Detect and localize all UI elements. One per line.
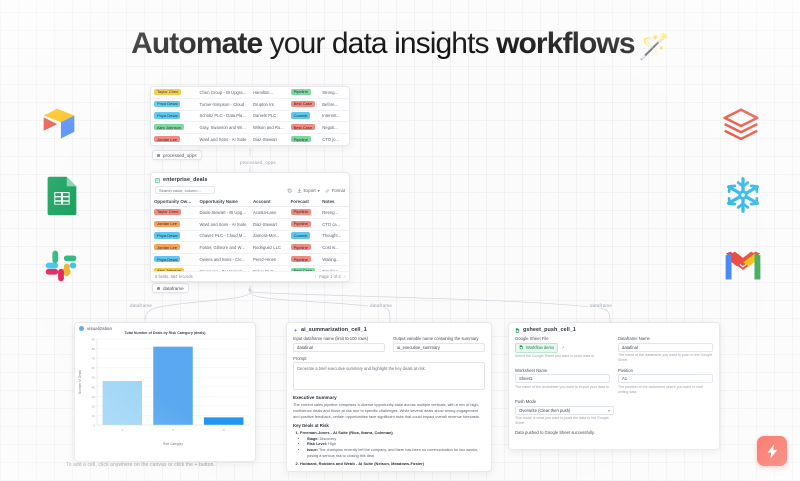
deal-item: Freeman-Jones - AI Suite (Rios, Ibarra, …	[300, 430, 485, 460]
sparkle-icon	[293, 328, 298, 333]
svg-text:40: 40	[92, 385, 96, 389]
cell-notes: Thoght...	[319, 145, 349, 146]
cell-notes: Before...	[319, 98, 349, 110]
cell-notes: Waiting...	[319, 254, 349, 266]
deal-fact: Issue: The champion recently left the co…	[307, 448, 485, 459]
table-row[interactable]: Jordan LeeFoster, Gilmore and Wood...Rod…	[151, 242, 349, 254]
top-table-card[interactable]: Taylor ChenChen Group - BI UpgradeHamilt…	[150, 86, 350, 146]
sheet-file-icon	[519, 345, 524, 350]
cell-name: Owens PLC - Cloud Migra...	[197, 145, 250, 146]
status-pill: Best Case	[291, 124, 315, 130]
gsheet-pushmode-help: This mode is what you want to push the d…	[515, 416, 614, 426]
record-count: 6 fields, 684 records	[155, 274, 193, 279]
cell-notes: Reeng...	[319, 207, 349, 219]
node-processed-opps[interactable]: processed_opps	[152, 150, 202, 160]
gsheet-worksheet-help: The name of the worksheet you want to ex…	[515, 385, 610, 390]
prev-page-icon[interactable]: ‹	[315, 274, 316, 279]
chevron-down-icon: ▾	[318, 188, 320, 193]
gsheet-row-3: Push Mode Overwrite (Clear then push) ▾ …	[509, 399, 719, 426]
svg-text:50: 50	[92, 376, 96, 380]
card-title-text: enterprise_deals	[163, 177, 207, 183]
status-pill: Pipeline	[291, 209, 311, 215]
status-pill: Priya Desai	[154, 232, 180, 238]
cell-owner: Taylor Chen	[151, 87, 197, 98]
ai-prompt-textarea[interactable]: Generate a brief executive summary and h…	[293, 362, 485, 390]
cell-forecast: Pipeline	[288, 242, 320, 254]
card-title-text: ai_summarization_cell_1	[301, 327, 367, 333]
status-pill: Taylor Chen	[154, 89, 181, 95]
table-row[interactable]: Alex JohnsonGray, Swanson and Wise...Wil…	[151, 122, 349, 134]
visualization-card[interactable]: visualization Total Number of Deals by R…	[74, 322, 256, 462]
legend-label: visualization	[87, 326, 112, 331]
cell-account: Zamora-Mor...	[250, 145, 288, 146]
external-link-icon[interactable]: ↗	[561, 345, 564, 350]
svg-text:80: 80	[92, 347, 96, 351]
enterprise-deals-table: Opportunity OwnerOpportunity NameAccount…	[151, 197, 349, 282]
table-row[interactable]: Priya DesaiOwens and Sons - Cloud ...Per…	[151, 254, 349, 266]
table-row[interactable]: Jordan LeeWard and Sons - AI SuiteDiaz-S…	[151, 218, 349, 230]
gsheet-file-chip[interactable]: Workflow demo	[515, 343, 558, 353]
cell-account: Rodriguez LLC	[250, 242, 288, 254]
enterprise-deals-footer: 6 fields, 684 records ‹ Page 1 of 3 ›	[151, 271, 349, 281]
node-handle-icon	[157, 287, 160, 290]
ai-prompt-group: Prompt Generate a brief executive summar…	[287, 352, 491, 391]
gsheet-dataframe-group: Dataframe Name datafinal The name of the…	[618, 336, 713, 363]
workflow-canvas[interactable]: dataframe dataframe dataframe processed_…	[0, 0, 800, 481]
status-pill: Best Case	[291, 101, 315, 107]
cell-account: Diaz-Stewart	[250, 218, 288, 230]
svg-text:30: 30	[92, 395, 96, 399]
node-handle-icon	[157, 154, 160, 157]
page-indicator: Page 1 of 3	[319, 274, 340, 279]
column-header[interactable]: Forecast	[288, 197, 320, 207]
cell-account: Zamora-Mor...	[250, 230, 288, 242]
status-pill: Taylor Chen	[154, 209, 181, 215]
column-header[interactable]: Opportunity Owner	[151, 197, 197, 207]
cell-owner: Priya Desai	[151, 145, 197, 146]
gsheet-position-value[interactable]: A1	[618, 374, 713, 383]
pagination[interactable]: ‹ Page 1 of 3 ›	[315, 274, 345, 279]
gsheet-pushmode-select[interactable]: Overwrite (Clear then push) ▾	[515, 406, 614, 415]
landing-hero-canvas: Automate your data insights workflows🪄	[0, 0, 800, 481]
table-row[interactable]: Priya DesaiSchultz PLC - Data Platf...Da…	[151, 110, 349, 122]
ai-input-field-group: Input dataframe name (limit to 100 rows)…	[293, 336, 385, 352]
edge-label-dataframe-1: dataframe	[128, 303, 154, 308]
cell-notes: Negoti...	[319, 122, 349, 134]
next-page-icon[interactable]: ›	[344, 274, 345, 279]
svg-text:90: 90	[92, 338, 96, 342]
cell-forecast: Commit	[288, 230, 320, 242]
ai-output-value[interactable]: ai_executive_summary	[393, 343, 485, 352]
status-pill: Alex Johnson	[154, 124, 184, 130]
status-pill: Pipeline	[291, 136, 311, 142]
edge-label-dataframe-3: dataframe	[588, 303, 614, 308]
bar-chart: 0102030405060708090123Risk CategoryNumbe…	[75, 335, 256, 447]
column-header[interactable]: Opportunity Name	[197, 197, 250, 207]
table-toolbar[interactable]: Export ▾ Format	[151, 183, 349, 197]
canvas-hint-text: To add a cell, click anywhere on the can…	[66, 462, 215, 468]
cell-account: Wilson and Ro...	[250, 122, 288, 134]
svg-text:Number of Deals: Number of Deals	[78, 370, 82, 394]
cell-name: Schultz PLC - Data Platf...	[197, 110, 250, 122]
cell-owner: Priya Desai	[151, 254, 197, 266]
cell-owner: Priya Desai	[151, 98, 197, 110]
cell-account: Hamilton...	[250, 87, 288, 98]
svg-text:10: 10	[92, 414, 96, 418]
svg-text:20: 20	[92, 404, 96, 408]
cell-notes: CTO jo...	[319, 134, 349, 146]
status-pill: Priya Desai	[154, 256, 180, 262]
status-pill: Pipeline	[291, 89, 311, 95]
cell-name: Chen Group - BI Upgrade	[197, 87, 250, 98]
search-input[interactable]	[155, 186, 215, 194]
ai-prompt-label: Prompt	[293, 356, 485, 361]
deal-facts: Stage: DiscoveryRisk Level: HighIssue: T…	[307, 437, 485, 460]
cell-forecast: Best Case	[288, 98, 320, 110]
lightning-bolt-badge[interactable]	[757, 436, 787, 466]
cell-name: Ward and Sons - AI Suite	[197, 218, 250, 230]
status-pill: Pipeline	[291, 256, 311, 262]
export-button[interactable]: Export ▾	[297, 188, 320, 193]
ai-input-value[interactable]: datafinal	[293, 343, 385, 352]
summary-heading: Executive Summary	[293, 395, 485, 400]
svg-text:0: 0	[93, 424, 95, 428]
chart-legend: visualization	[75, 323, 255, 331]
gsheet-row-2: Worksheet Name Sheet1 The name of the wo…	[509, 368, 719, 395]
cell-forecast: Commit	[288, 145, 320, 146]
cell-name: Turner-Simpson - Cloud	[197, 98, 250, 110]
brush-icon	[325, 188, 330, 193]
gsheet-file-label: Google Sheet File	[515, 336, 610, 341]
format-label: Format	[332, 188, 345, 193]
format-button[interactable]: Format	[325, 188, 345, 193]
gsheet-dataframe-label: Dataframe Name	[618, 336, 713, 341]
cell-forecast: Pipeline	[288, 207, 320, 219]
gsheet-file-help: Select the Google Sheet you want to push…	[515, 354, 610, 359]
cell-owner: Jordan Lee	[151, 218, 197, 230]
google-sheets-icon	[515, 328, 520, 333]
svg-text:3: 3	[223, 428, 225, 432]
gsheet-file-group: Google Sheet File Workflow demo ↗ Select…	[515, 336, 610, 363]
table-row[interactable]: Taylor ChenChen Group - BI UpgradeHamilt…	[151, 87, 349, 98]
cell-name: Chavez PLC - Cloud Migra...	[197, 230, 250, 242]
table-row[interactable]: Priya DesaiOwens PLC - Cloud Migra...Zam…	[151, 145, 349, 146]
cell-name: Ward and Sons - AI Suite	[197, 134, 250, 146]
cell-forecast: Commit	[288, 110, 320, 122]
legend-swatch-icon	[79, 326, 84, 331]
export-label: Export	[304, 188, 316, 193]
top-table: Taylor ChenChen Group - BI UpgradeHamilt…	[151, 87, 349, 146]
status-pill: Priya Desai	[154, 101, 180, 107]
status-pill: Jordan Lee	[154, 221, 180, 227]
gsheet-status-message: Data pushed to Google Sheet successfully…	[509, 426, 719, 439]
status-pill: Priya Desai	[154, 112, 180, 118]
cell-owner: Jordan Lee	[151, 134, 197, 146]
ai-summary-output: Executive Summary The current sales pipe…	[287, 390, 491, 467]
node-dataframe[interactable]: dataframe	[152, 283, 189, 293]
cell-account: Drupton Int	[250, 98, 288, 110]
ai-cell-fields: Input dataframe name (limit to 100 rows)…	[287, 336, 491, 352]
gsheet-position-help: The position of the worksheet where you …	[618, 385, 713, 395]
cell-notes: CTO ca...	[319, 218, 349, 230]
cell-name: Owens and Sons - Cloud ...	[197, 254, 250, 266]
cell-name: Foster, Gilmore and Wood...	[197, 242, 250, 254]
cell-owner: Taylor Chen	[151, 207, 197, 219]
ai-input-label: Input dataframe name (limit to 100 rows)	[293, 336, 385, 341]
deals-heading: Key Deals at Risk	[293, 423, 485, 428]
cell-forecast: Pipeline	[288, 254, 320, 266]
status-pill: Jordan Lee	[154, 244, 180, 250]
gsheet-position-label: Position	[618, 368, 713, 373]
status-pill: Pipeline	[291, 244, 311, 250]
cell-account: Acosta-Lane	[250, 207, 288, 219]
table-row[interactable]: Taylor ChenDavis-Stewart - BI UpgradeAco…	[151, 207, 349, 219]
cell-name: Davis-Stewart - BI Upgrade	[197, 207, 250, 219]
svg-text:Risk Category: Risk Category	[163, 442, 183, 446]
gsheet-cell-title-row: gsheet_push_cell_1	[515, 327, 713, 333]
ai-cell-title-row: ai_summarization_cell_1	[293, 327, 485, 333]
gsheet-position-group: Position A1 The position of the workshee…	[618, 368, 713, 395]
gsheet-row-1: Google Sheet File Workflow demo ↗ Select…	[509, 336, 719, 363]
cell-notes: Interest...	[319, 110, 349, 122]
gsheet-worksheet-group: Worksheet Name Sheet1 The name of the wo…	[515, 368, 610, 395]
table-icon	[155, 178, 160, 183]
cell-owner: Priya Desai	[151, 110, 197, 122]
deal-item: Hubbard, Robbins and Webb - AI Suite (Ne…	[300, 461, 485, 467]
cell-account: Diaz-Stewart	[250, 134, 288, 146]
lightning-bolt-icon	[764, 443, 781, 460]
cell-forecast: Pipeline	[288, 87, 320, 98]
status-pill: Commit	[291, 232, 311, 238]
cell-owner: Jordan Lee	[151, 242, 197, 254]
column-header[interactable]: Account	[250, 197, 288, 207]
table-row[interactable]: Jordan LeeWard and Sons - AI SuiteDiaz-S…	[151, 134, 349, 146]
ai-output-field-group: Output variable name containing the summ…	[393, 336, 485, 352]
cell-notes: Thought...	[319, 230, 349, 242]
ai-output-label: Output variable name containing the summ…	[393, 336, 485, 341]
copy-icon	[287, 188, 292, 193]
cell-owner: Alex Johnson	[151, 122, 197, 134]
cell-notes: Cost is...	[319, 242, 349, 254]
edge-label-dataframe-2: dataframe	[368, 303, 394, 308]
gsheet-worksheet-value[interactable]: Sheet1	[515, 374, 610, 383]
summary-paragraph: The current sales pipeline comprises a d…	[293, 402, 485, 420]
cell-notes: Strong...	[319, 87, 349, 98]
gsheet-worksheet-label: Worksheet Name	[515, 368, 610, 373]
cell-account: Daniels PLC	[250, 110, 288, 122]
svg-text:2: 2	[172, 428, 174, 432]
table-row[interactable]: Priya DesaiTurner-Simpson - CloudDrupton…	[151, 98, 349, 110]
gsheet-file-chip-wrap: Workflow demo ↗	[515, 343, 610, 353]
gsheet-pushmode-value: Overwrite (Clear then push)	[519, 408, 570, 413]
status-pill: Pipeline	[291, 221, 311, 227]
node-label: dataframe	[163, 286, 184, 291]
column-header[interactable]: Notes	[319, 197, 349, 207]
download-icon	[297, 188, 302, 193]
card-title-text: gsheet_push_cell_1	[523, 327, 576, 333]
gsheet-file-value: Workflow demo	[526, 345, 554, 350]
svg-text:1: 1	[121, 428, 123, 432]
cell-owner: Priya Desai	[151, 230, 197, 242]
cell-forecast: Pipeline	[288, 134, 320, 146]
ai-summarization-card[interactable]: ai_summarization_cell_1 Input dataframe …	[286, 322, 492, 472]
chevron-down-icon: ▾	[608, 408, 610, 413]
cell-forecast: Pipeline	[288, 218, 320, 230]
gsheet-push-card[interactable]: gsheet_push_cell_1 Google Sheet File Wor…	[508, 322, 720, 450]
cell-forecast: Best Case	[288, 122, 320, 134]
gsheet-pushmode-label: Push Mode	[515, 399, 614, 404]
gsheet-dataframe-help: The name of the dataframe you want to pu…	[618, 353, 713, 363]
node-label: processed_opps	[163, 153, 197, 158]
table-row[interactable]: Priya DesaiChavez PLC - Cloud Migra...Za…	[151, 230, 349, 242]
svg-text:60: 60	[92, 366, 96, 370]
enterprise-deals-card[interactable]: enterprise_deals Export ▾	[150, 172, 350, 282]
cell-name: Gray, Swanson and Wise...	[197, 122, 250, 134]
cell-account: Perez-Hines	[250, 254, 288, 266]
status-pill: Commit	[291, 112, 311, 118]
copy-button[interactable]	[287, 188, 292, 193]
node-caption-processed-opps: processed_opps	[238, 160, 278, 165]
deals-list: Freeman-Jones - AI Suite (Rios, Ibarra, …	[300, 430, 485, 468]
gsheet-dataframe-value[interactable]: datafinal	[618, 343, 713, 352]
status-pill: Jordan Lee	[154, 136, 180, 142]
gsheet-pushmode-group: Push Mode Overwrite (Clear then push) ▾ …	[515, 399, 614, 426]
svg-text:70: 70	[92, 357, 96, 361]
